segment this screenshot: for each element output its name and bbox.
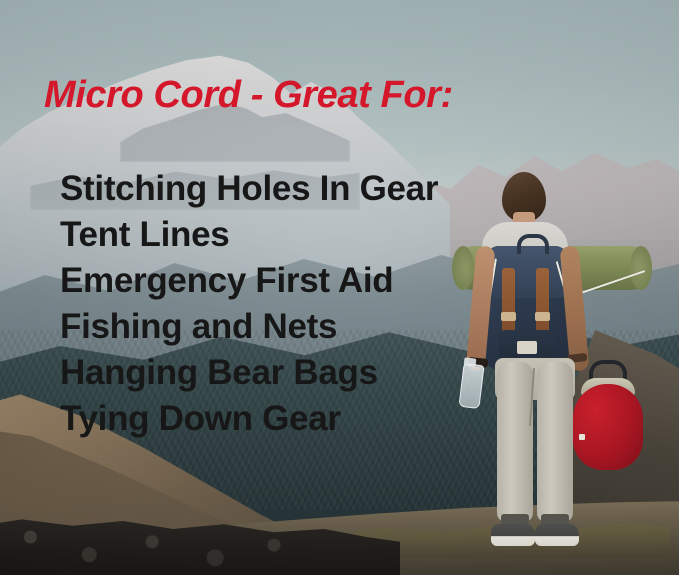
- backpack-logo-patch: [517, 341, 537, 354]
- sleeping-mat-end-left: [452, 246, 474, 290]
- list-item: Hanging Bear Bags: [60, 350, 438, 396]
- backpack-buckle-right: [535, 312, 550, 321]
- backpack-grab-handle: [517, 234, 549, 254]
- water-bottle: [458, 363, 484, 409]
- water-bottle-cap: [464, 357, 477, 366]
- list-item: Tent Lines: [60, 212, 438, 258]
- sleeping-mat-end-right: [630, 246, 652, 290]
- hiker-figure: [455, 172, 650, 575]
- backpack-buckle-left: [501, 312, 516, 321]
- use-case-list: Stitching Holes In Gear Tent Lines Emerg…: [60, 166, 438, 442]
- list-item: Fishing and Nets: [60, 304, 438, 350]
- hiker-leg-right: [537, 362, 573, 522]
- list-item: Tying Down Gear: [60, 396, 438, 442]
- list-item: Emergency First Aid: [60, 258, 438, 304]
- list-item: Stitching Holes In Gear: [60, 166, 438, 212]
- page-title: Micro Cord - Great For:: [44, 74, 453, 117]
- hiker-leg-left: [497, 362, 533, 522]
- hiker-shoe-left: [491, 524, 535, 546]
- stuff-sack-tag: [579, 434, 585, 440]
- red-stuff-sack: [573, 384, 643, 470]
- hiker-shoe-right: [535, 524, 579, 546]
- product-poster: Micro Cord - Great For: Stitching Holes …: [0, 0, 679, 575]
